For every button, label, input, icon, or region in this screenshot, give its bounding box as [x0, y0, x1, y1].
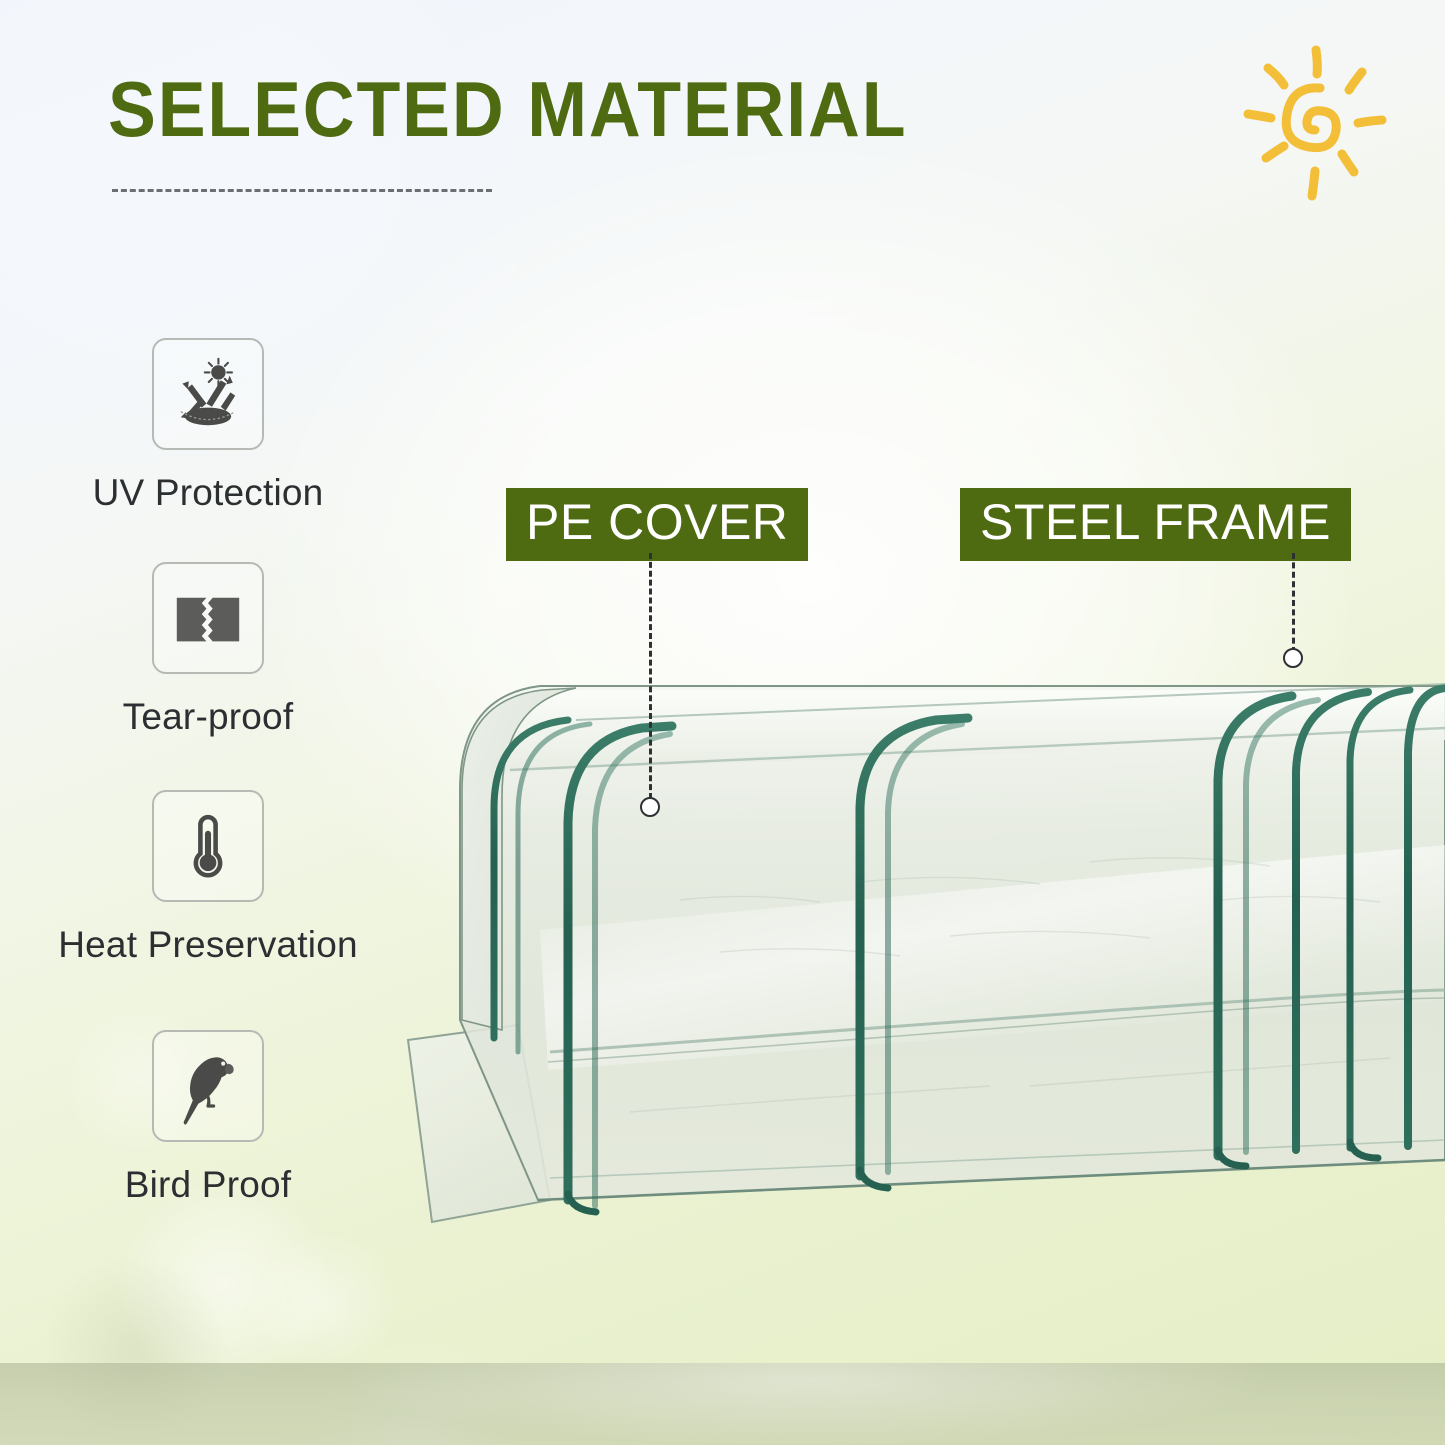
tear-proof-icon	[152, 562, 264, 674]
callout-pe-cover: PE COVER	[506, 488, 808, 561]
infographic-canvas: SELECTED MATERIAL	[0, 0, 1445, 1445]
feature-item-tear-proof: Tear-proof	[38, 562, 378, 738]
page-title: SELECTED MATERIAL	[108, 70, 907, 148]
bird-icon	[152, 1030, 264, 1142]
greenhouse-illustration	[390, 600, 1445, 1250]
feature-label: Tear-proof	[38, 696, 378, 738]
floor-sheen	[0, 1363, 1445, 1445]
sun-doodle-icon	[1228, 36, 1408, 216]
callout-leader-line	[1292, 553, 1295, 653]
title-divider	[112, 189, 492, 192]
feature-item-heat-preservation: Heat Preservation	[38, 790, 378, 966]
callout-steel-frame: STEEL FRAME	[960, 488, 1351, 561]
feature-label: UV Protection	[38, 472, 378, 514]
thermometer-icon	[152, 790, 264, 902]
feature-item-bird-proof: Bird Proof	[38, 1030, 378, 1206]
callout-endpoint-dot	[640, 797, 660, 817]
uv-protection-icon	[152, 338, 264, 450]
feature-label: Heat Preservation	[38, 924, 378, 966]
feature-label: Bird Proof	[38, 1164, 378, 1206]
callout-endpoint-dot	[1283, 648, 1303, 668]
feature-item-uv-protection: UV Protection	[38, 338, 378, 514]
callout-leader-line	[649, 553, 652, 799]
